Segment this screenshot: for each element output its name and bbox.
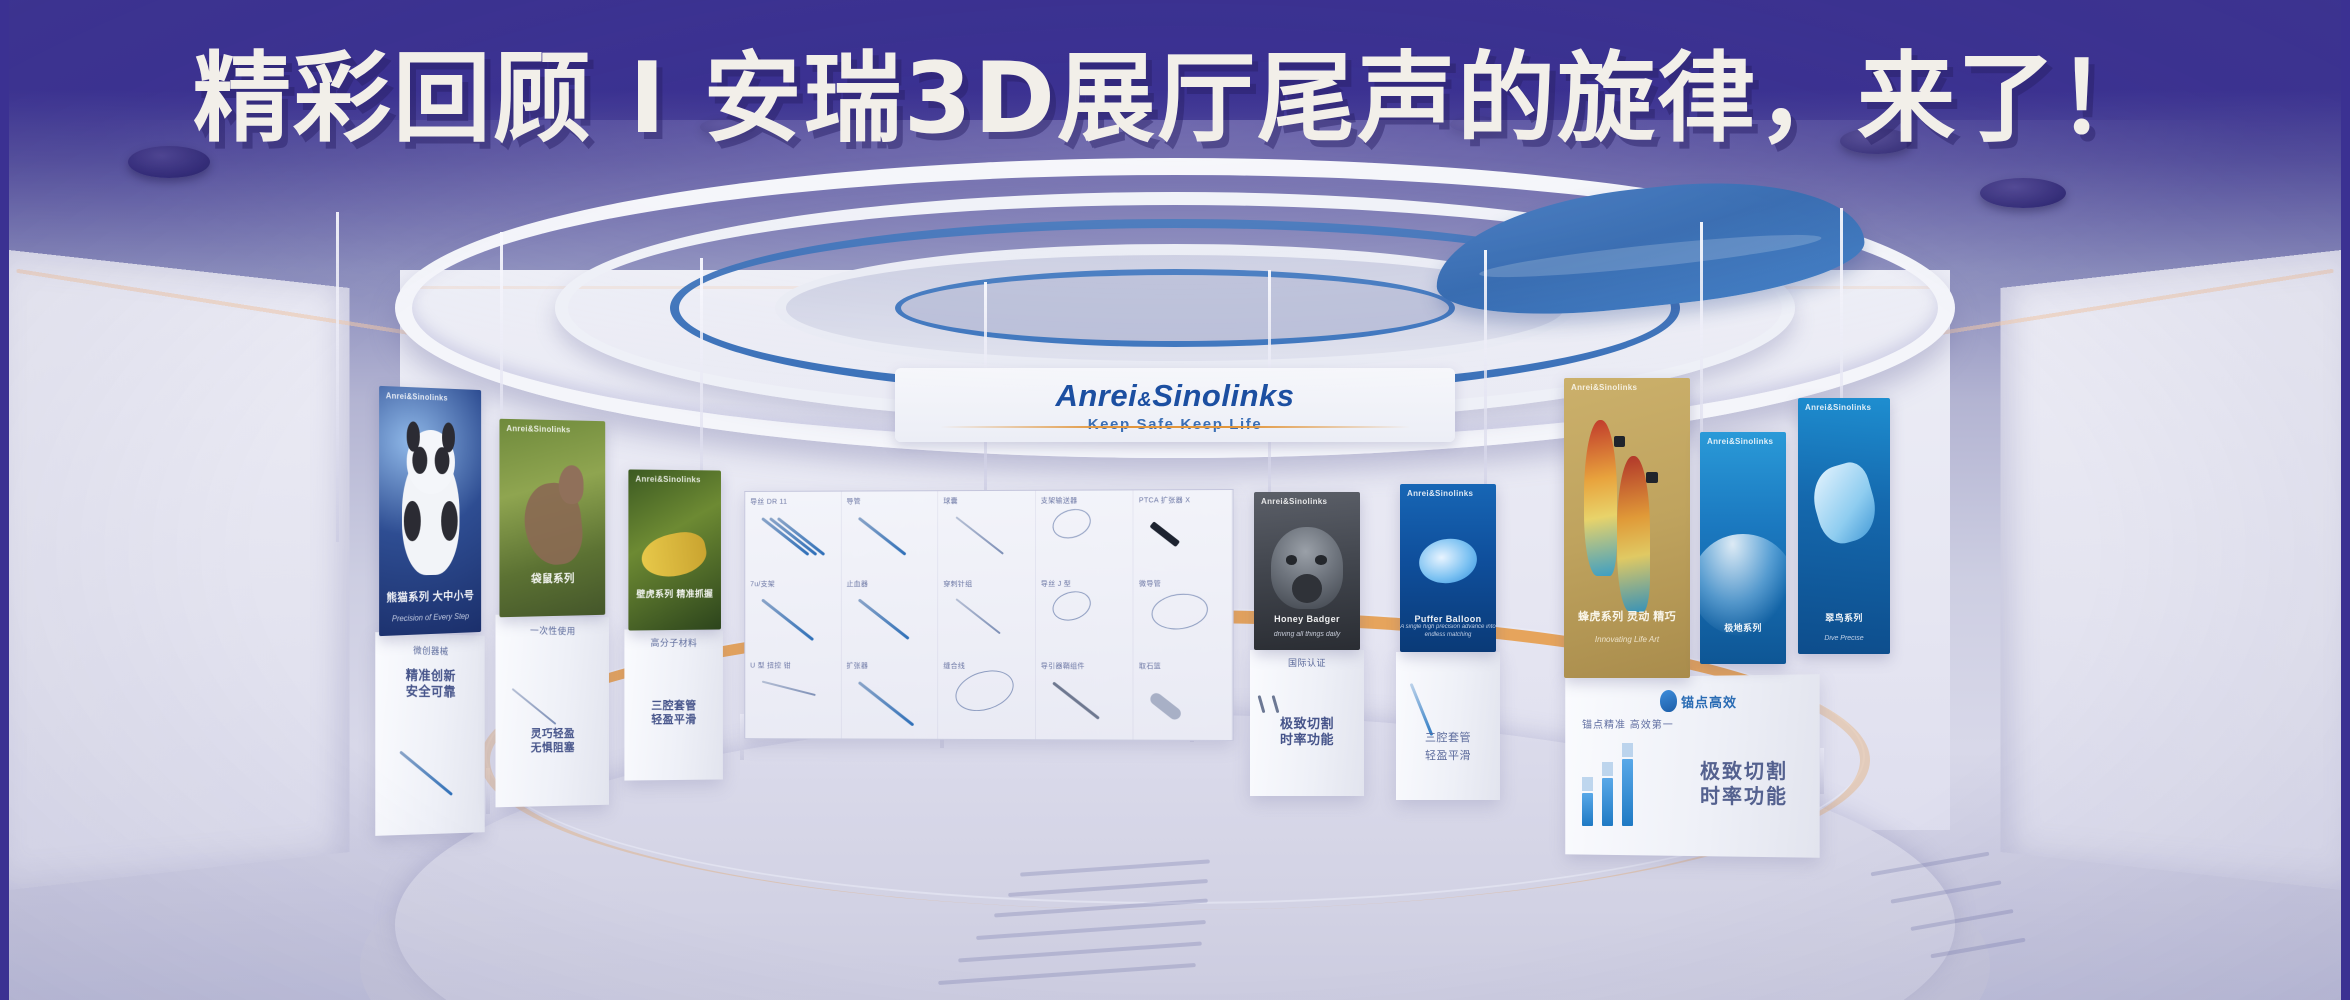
- brand-name-part2: Sinolinks: [1152, 378, 1294, 413]
- product-cell: 穿刺针组: [938, 574, 1035, 657]
- product-label: 微导管: [1139, 578, 1161, 588]
- product-display-wall: 导丝 DR 11 导管 球囊 支架输送器 PTCA 扩张器 X 7u/支架 止血…: [744, 489, 1233, 741]
- ceiling-light-5: [1450, 116, 1502, 133]
- gecko-artwork: [628, 469, 721, 630]
- product-label: 止血器: [846, 579, 868, 589]
- exhibition-hall-3d-scene: Anrei&Sinolinks Keep Safe Keep Life Anre…: [0, 0, 2350, 1000]
- column-panda-stand: 微创器械 精准创新 安全可靠: [375, 632, 484, 836]
- poster-title: 壁虎系列 精准抓握: [628, 587, 721, 601]
- column-caption-small: 三腔套管: [1402, 732, 1494, 746]
- poster-title: 极地系列: [1700, 621, 1786, 634]
- product-label: 扩张器: [846, 661, 868, 671]
- product-cell: 导丝 J 型: [1036, 573, 1134, 656]
- product-label: 导管: [846, 496, 860, 506]
- product-cell: 导管: [841, 491, 938, 574]
- product-label: 支架输送器: [1041, 496, 1078, 506]
- ceiling-ring-core: [895, 269, 1455, 347]
- product-cell: 7u/支架: [745, 574, 841, 656]
- poster-subtitle: Dive Precise: [1798, 635, 1890, 642]
- poster-gecko: Anrei&Sinolinks 壁虎系列 精准抓握: [628, 469, 721, 630]
- brand-name: Anrei&Sinolinks: [1055, 378, 1294, 414]
- border-left: [0, 0, 9, 1000]
- ceiling-light-2: [1840, 128, 1912, 154]
- poster-brand-label: Anrei&Sinolinks: [1571, 383, 1637, 392]
- instrument-illustration: [399, 750, 453, 795]
- stat-bar-chart: [1582, 740, 1702, 826]
- column-badger-stand: 国际认证 极致切割 时率功能: [1250, 650, 1364, 796]
- ceiling-light-1: [128, 146, 210, 178]
- wall-right: [2000, 250, 2341, 890]
- column-caption-small: 高分子材料: [630, 638, 717, 650]
- poster-puffer-balloon: Anrei&Sinolinks Puffer Balloon A single …: [1400, 484, 1496, 652]
- column-caption-small: 国际认证: [1256, 658, 1358, 669]
- column-caption-small: 微创器械: [381, 645, 479, 659]
- badger-artwork: [1254, 492, 1360, 650]
- product-cell: 球囊: [938, 491, 1035, 574]
- hanging-rod-6: [1484, 250, 1487, 518]
- poster-kingfisher-far: Anrei&Sinolinks 翠鸟系列 Dive Precise: [1798, 398, 1890, 654]
- product-label: PTCA 扩张器 X: [1139, 495, 1190, 505]
- column-kangaroo-stand: 一次性使用 灵巧轻盈 无惧阻塞: [496, 615, 609, 808]
- product-cell: 缝合线: [938, 656, 1035, 739]
- column-puffer-stand: 三腔套管 轻盈平滑: [1396, 652, 1500, 800]
- slogan-line-2: 时率功能: [1700, 785, 1810, 810]
- wall-left: [9, 250, 350, 890]
- poster-subtitle: A single high precision advance into end…: [1400, 624, 1496, 640]
- product-cell: 微导管: [1134, 573, 1233, 656]
- product-label: 导丝 DR 11: [750, 497, 787, 507]
- product-cell: 止血器: [841, 574, 938, 657]
- poster-kingfisher: Anrei&Sinolinks 极地系列: [1700, 432, 1786, 664]
- bar-1: [1582, 793, 1593, 826]
- brand-tagline: Keep Safe Keep Life: [1088, 416, 1263, 433]
- column-caption-big: 灵巧轻盈 无惧阻塞: [501, 728, 603, 756]
- poster-title: 蜂虎系列 灵动 精巧: [1564, 608, 1690, 624]
- instrument-illustration: [1271, 695, 1279, 713]
- product-cell: 取石篮: [1134, 657, 1233, 740]
- product-cell: 导引器鞘组件: [1036, 656, 1134, 739]
- brand-name-part1: Anrei: [1055, 378, 1137, 413]
- poster-title: Honey Badger: [1254, 614, 1360, 624]
- poster-brand-label: Anrei&Sinolinks: [635, 475, 700, 485]
- product-label: U 型 扭控 钳: [750, 661, 791, 671]
- poster-kangaroo: Anrei&Sinolinks 袋鼠系列: [499, 419, 605, 618]
- stat-panel-logo-text: 锚点高效: [1681, 692, 1737, 711]
- product-cell: 导丝 DR 11: [745, 492, 841, 574]
- poster-title: Puffer Balloon: [1400, 614, 1496, 624]
- poster-honey-badger: Anrei&Sinolinks Honey Badger driving all…: [1254, 492, 1360, 650]
- product-cell: 支架输送器: [1036, 490, 1134, 573]
- column-caption-big: 三腔套管 轻盈平滑: [630, 700, 717, 728]
- instrument-illustration: [511, 688, 555, 725]
- product-cell: U 型 扭控 钳: [745, 656, 841, 738]
- product-label: 7u/支架: [750, 579, 775, 589]
- bar-3: [1622, 759, 1633, 826]
- product-label: 导丝 J 型: [1041, 579, 1071, 589]
- stat-chart-caption: 锚点精准 高效第一: [1582, 716, 1712, 731]
- column-gecko-stand: 高分子材料 三腔套管 轻盈平滑: [624, 629, 722, 780]
- poster-subtitle: driving all things daily: [1254, 631, 1360, 638]
- product-label: 导引器鞘组件: [1041, 661, 1085, 671]
- brand-underline: [940, 426, 1410, 428]
- border-right: [2341, 0, 2350, 1000]
- column-caption-small: 轻盈平滑: [1402, 750, 1494, 764]
- poster-brand-label: Anrei&Sinolinks: [1707, 437, 1773, 446]
- brand-ampersand: &: [1137, 389, 1152, 411]
- bar-2: [1602, 778, 1613, 826]
- bird-artwork: [1564, 378, 1690, 678]
- ceiling-light-4: [700, 118, 756, 136]
- poster-brand-label: Anrei&Sinolinks: [1407, 489, 1473, 498]
- product-label: 取石篮: [1139, 662, 1161, 672]
- poster-panda: Anrei&Sinolinks 熊猫系列 大中小号 Precision of E…: [379, 386, 481, 636]
- exhibition-banner-image: Anrei&Sinolinks Keep Safe Keep Life Anre…: [0, 0, 2350, 1000]
- instrument-illustration: [1258, 695, 1266, 713]
- hanging-rod-1: [336, 212, 339, 542]
- poster-title: 熊猫系列 大中小号: [379, 587, 481, 606]
- brand-logo-banner: Anrei&Sinolinks Keep Safe Keep Life: [895, 368, 1455, 442]
- product-label: 缝合线: [943, 661, 965, 671]
- product-cell: PTCA 扩张器 X: [1134, 490, 1233, 573]
- product-cell: 扩张器: [841, 656, 938, 739]
- instrument-illustration: [1409, 683, 1433, 736]
- poster-title: 袋鼠系列: [499, 569, 605, 587]
- column-caption-big: 精准创新 安全可靠: [381, 667, 479, 701]
- stat-panel-logo: 锚点高效: [1660, 690, 1737, 712]
- droplet-icon: [1660, 690, 1677, 712]
- kangaroo-artwork: [499, 419, 605, 618]
- poster-bee-eater: Anrei&Sinolinks 蜂虎系列 灵动 精巧 Innovating Li…: [1564, 378, 1690, 678]
- product-label: 球囊: [943, 496, 958, 506]
- ceiling-light-3: [1980, 178, 2066, 208]
- column-caption-small: 一次性使用: [501, 625, 603, 638]
- poster-subtitle: Innovating Life Art: [1564, 635, 1690, 644]
- poster-brand-label: Anrei&Sinolinks: [1805, 403, 1871, 412]
- stat-panel-slogan: 极致切割 时率功能: [1700, 760, 1810, 810]
- poster-brand-label: Anrei&Sinolinks: [1261, 497, 1327, 506]
- poster-brand-label: Anrei&Sinolinks: [506, 424, 570, 434]
- column-caption-big: 极致切割 时率功能: [1256, 716, 1358, 749]
- slogan-line-1: 极致切割: [1700, 760, 1810, 785]
- poster-title: 翠鸟系列: [1798, 611, 1890, 624]
- product-label: 穿刺针组: [943, 579, 972, 589]
